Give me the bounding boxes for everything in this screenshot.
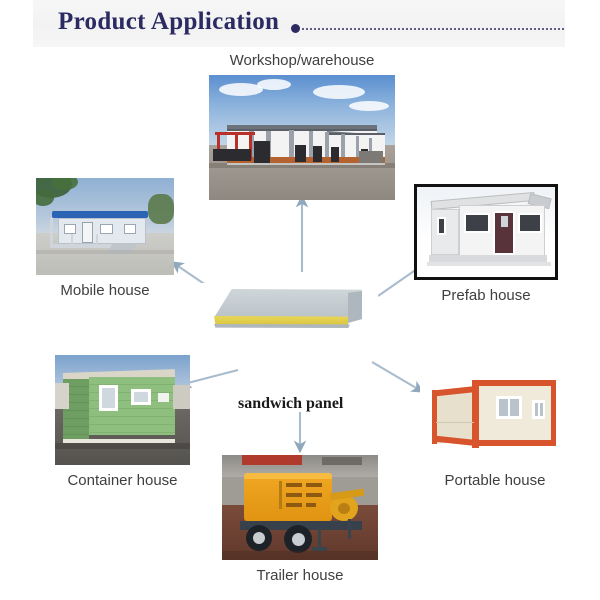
card-workshop[interactable]: Workshop/warehouse bbox=[209, 52, 395, 200]
photo-sandwich-panel bbox=[198, 283, 378, 343]
photo-workshop bbox=[209, 75, 395, 200]
photo-prefab-house bbox=[414, 184, 558, 280]
caption-prefab-house: Prefab house bbox=[414, 287, 558, 304]
card-container-house[interactable]: Container house bbox=[55, 355, 190, 489]
bullet-dot-icon bbox=[291, 24, 300, 33]
photo-container-house bbox=[55, 355, 190, 465]
photo-portable-house bbox=[420, 360, 570, 465]
photo-mobile-house bbox=[36, 178, 174, 275]
card-sandwich-panel[interactable] bbox=[198, 283, 378, 343]
photo-trailer-house bbox=[222, 455, 378, 560]
card-prefab-house[interactable]: Prefab house bbox=[414, 184, 558, 304]
header-dotted-rule bbox=[302, 28, 564, 30]
card-mobile-house[interactable]: Mobile house bbox=[36, 178, 174, 299]
caption-workshop: Workshop/warehouse bbox=[209, 52, 395, 69]
card-portable-house[interactable]: Portable house bbox=[420, 360, 570, 489]
label-sandwich-panel: sandwich panel bbox=[238, 395, 343, 413]
product-application-page: Product Application Workshop/warehouse bbox=[0, 0, 600, 600]
caption-trailer-house: Trailer house bbox=[222, 567, 378, 584]
caption-container-house: Container house bbox=[55, 472, 190, 489]
card-trailer-house[interactable]: Trailer house bbox=[222, 455, 378, 584]
caption-portable-house: Portable house bbox=[420, 472, 570, 489]
caption-mobile-house: Mobile house bbox=[36, 282, 174, 299]
page-title: Product Application bbox=[58, 8, 279, 36]
arrow-to-portable-house bbox=[372, 362, 423, 392]
